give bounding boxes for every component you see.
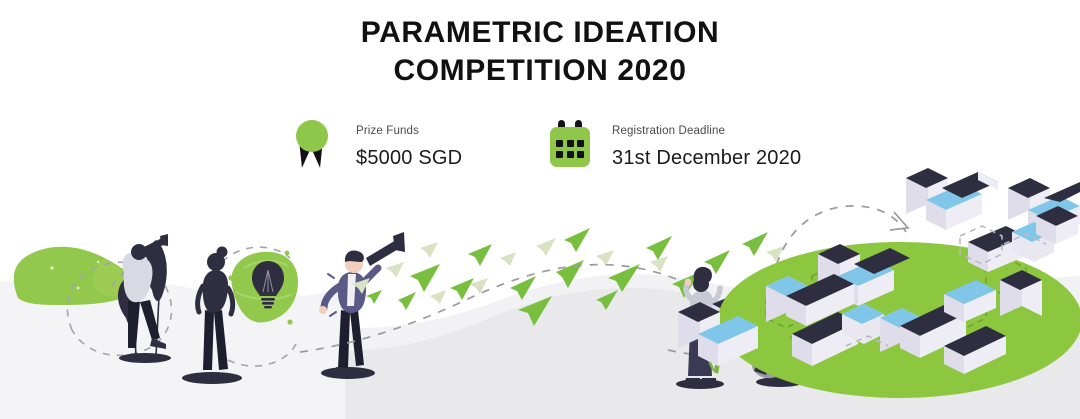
medal-icon <box>292 120 344 176</box>
info-text-deadline: Registration Deadline 31st December 2020 <box>612 120 801 171</box>
prize-value: $5000 SGD <box>356 145 462 171</box>
info-item-prize: Prize Funds $5000 SGD <box>292 120 462 176</box>
deadline-value: 31st December 2020 <box>612 145 801 171</box>
info-strip: Prize Funds $5000 SGD Registration Deadl… <box>0 120 1080 190</box>
hero-illustration <box>0 0 1080 419</box>
calendar-icon <box>548 120 600 176</box>
deadline-label: Registration Deadline <box>612 124 801 138</box>
prize-label: Prize Funds <box>356 124 462 138</box>
info-text-prize: Prize Funds $5000 SGD <box>356 120 462 171</box>
info-item-deadline: Registration Deadline 31st December 2020 <box>548 120 801 176</box>
poster-canvas: PARAMETRIC IDEATION COMPETITION 2020 Pri… <box>0 0 1080 419</box>
